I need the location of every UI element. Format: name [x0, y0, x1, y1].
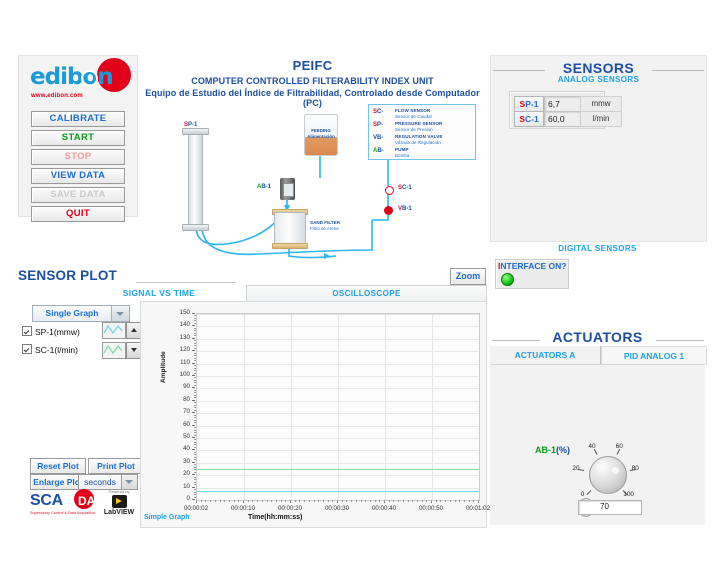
logo-url: www.edibon.com	[31, 93, 83, 99]
sensor-row-sc1: SC-1 60,0 l/min	[514, 111, 624, 125]
scada-wordmark: SCA	[30, 492, 63, 509]
unit-code: PEIFC	[140, 58, 485, 73]
chevron-down-icon[interactable]	[121, 475, 137, 489]
x-minor-tick	[210, 500, 211, 502]
y-tick	[192, 400, 195, 401]
sensor-code-sp1: SP-1	[514, 96, 544, 112]
view-data-button[interactable]: VIEW DATA	[31, 168, 125, 184]
legend-item: AB- PUMP Bomba	[369, 147, 475, 159]
x-minor-tick	[285, 500, 286, 502]
x-minor-tick	[248, 500, 249, 502]
y-tick-label: 30	[170, 458, 190, 465]
y-minor-tick	[194, 439, 196, 440]
y-minor-tick	[194, 430, 196, 431]
chart-line-sc-1-l-min-	[197, 469, 479, 470]
x-minor-tick	[252, 500, 253, 502]
x-minor-tick	[469, 500, 470, 502]
y-tick	[192, 387, 195, 388]
y-minor-tick	[194, 420, 196, 421]
legend-code: VB-	[373, 135, 383, 141]
x-minor-tick	[295, 500, 296, 502]
powered-by-label: Powered by	[97, 489, 141, 494]
series-color-swatch-sp1[interactable]	[102, 322, 126, 339]
y-tick	[192, 338, 195, 339]
y-tick	[192, 375, 195, 376]
x-minor-tick	[267, 500, 268, 502]
ab1-knob[interactable]	[589, 456, 627, 494]
column-top-cap	[182, 128, 209, 135]
gridline	[432, 314, 433, 500]
y-minor-tick	[194, 415, 196, 416]
y-tick-label: 10	[170, 483, 190, 490]
sensor-row-sp1: SP-1 6,7 mmw	[514, 96, 624, 110]
x-minor-tick	[238, 500, 239, 502]
calibrate-button[interactable]: CALIBRATE	[31, 111, 125, 127]
x-minor-tick	[201, 500, 202, 502]
y-minor-tick	[194, 392, 196, 393]
y-tick-label: 90	[170, 383, 190, 390]
process-diagram: SP-1 FEEDING Alimentación AB-1 SAND FILT…	[140, 100, 485, 262]
knob-tick-label: 80	[632, 465, 639, 472]
y-minor-tick	[194, 447, 196, 448]
x-minor-tick	[459, 500, 460, 502]
legend-label-es: Sensor de Caudal	[395, 114, 432, 119]
save-data-button[interactable]: SAVE DATA	[31, 187, 125, 203]
y-tick-label: 80	[170, 396, 190, 403]
legend-label-en: PUMP	[395, 147, 409, 152]
scada-logo: SCA DA Supervisory Control & Data Acquis…	[30, 492, 96, 515]
logo-wordmark: edibon	[30, 64, 113, 90]
x-minor-tick	[365, 500, 366, 502]
y-tick	[192, 462, 195, 463]
y-tick-label: 70	[170, 408, 190, 415]
graph-mode-value: Single Graph	[33, 306, 111, 321]
y-minor-tick	[194, 333, 196, 334]
sensor-value-sc1: 60,0	[544, 111, 582, 127]
diagram-legend: SC- FLOW SENSOR Sensor de Caudal SP- PRE…	[368, 104, 476, 160]
y-minor-tick	[194, 417, 196, 418]
knob-tick-label: 20	[572, 465, 579, 472]
y-minor-tick	[194, 410, 196, 411]
y-minor-tick	[194, 320, 196, 321]
x-minor-tick	[478, 500, 479, 502]
x-minor-tick	[337, 500, 338, 502]
y-tick	[192, 437, 195, 438]
gridline	[385, 314, 386, 500]
x-minor-tick	[431, 500, 432, 502]
knob-tick-label: 40	[588, 443, 595, 450]
x-minor-tick	[436, 500, 437, 502]
x-minor-tick	[342, 500, 343, 502]
x-minor-tick	[393, 500, 394, 502]
ab1-value: 70	[600, 502, 609, 511]
header-divider	[136, 282, 236, 283]
time-unit-select[interactable]: seconds	[78, 474, 138, 490]
sensor-code-sc1: SC-1	[514, 111, 544, 127]
x-minor-tick	[205, 500, 206, 502]
x-minor-tick	[426, 500, 427, 502]
x-tick-label: 00:00:10	[223, 505, 263, 512]
knob-label-ab1: AB-1(%)	[535, 445, 570, 455]
x-minor-tick	[234, 500, 235, 502]
simple-graph-label: Simple Graph	[144, 514, 190, 521]
x-minor-tick	[262, 500, 263, 502]
y-minor-tick	[194, 397, 196, 398]
y-minor-tick	[194, 330, 196, 331]
logo-o-ring-icon	[81, 70, 98, 87]
x-minor-tick	[440, 500, 441, 502]
y-minor-tick	[194, 457, 196, 458]
y-minor-tick	[194, 335, 196, 336]
y-tick	[192, 313, 195, 314]
y-minor-tick	[194, 355, 196, 356]
x-minor-tick	[398, 500, 399, 502]
checkbox-icon[interactable]	[22, 344, 32, 354]
x-minor-tick	[455, 500, 456, 502]
y-tick-label: 140	[170, 321, 190, 328]
x-minor-tick	[389, 500, 390, 502]
y-minor-tick	[194, 427, 196, 428]
x-minor-tick	[196, 500, 197, 502]
y-tick	[192, 325, 195, 326]
gridline	[338, 314, 339, 500]
x-minor-tick	[309, 500, 310, 502]
y-minor-tick	[194, 484, 196, 485]
x-minor-tick	[304, 500, 305, 502]
x-minor-tick	[370, 500, 371, 502]
x-minor-tick	[412, 500, 413, 502]
x-minor-tick	[323, 500, 324, 502]
x-minor-tick	[464, 500, 465, 502]
y-minor-tick	[194, 492, 196, 493]
y-tick-label: 100	[170, 371, 190, 378]
start-button[interactable]: START	[31, 130, 125, 146]
sand-filter	[274, 212, 306, 247]
x-minor-tick	[356, 500, 357, 502]
filter-label-en: SAND FILTER	[310, 220, 340, 225]
x-minor-tick	[290, 500, 291, 502]
zoom-button[interactable]: Zoom	[450, 268, 486, 285]
y-minor-tick	[194, 377, 196, 378]
y-tick-label: 50	[170, 433, 190, 440]
labview-play-icon	[112, 495, 127, 508]
signal-vs-time-subtitle: SIGNAL VS TIME	[100, 288, 218, 298]
y-tick-label: 60	[170, 421, 190, 428]
sensor-unit-sp1: mmw	[580, 96, 622, 112]
y-tick-label: 130	[170, 334, 190, 341]
y-minor-tick	[194, 482, 196, 483]
y-minor-tick	[194, 343, 196, 344]
channel-checkbox-sc1[interactable]: SC-1(l/min)	[22, 344, 78, 355]
sensor-unit-sc1: l/min	[580, 111, 622, 127]
sensor-value-sp1: 6,7	[544, 96, 582, 112]
unit-name-en: COMPUTER CONTROLLED FILTERABILITY INDEX …	[140, 76, 485, 86]
filter-label-es: Filtro de Arena	[310, 226, 339, 231]
diagram-label-sc1: SC-1	[398, 185, 412, 191]
y-minor-tick	[194, 370, 196, 371]
x-minor-tick	[328, 500, 329, 502]
pump-body	[283, 183, 294, 197]
y-minor-tick	[194, 323, 196, 324]
scroll-down-icon[interactable]	[126, 342, 141, 359]
y-minor-tick	[194, 422, 196, 423]
channel-label: SC-1(l/min)	[35, 345, 78, 355]
x-minor-tick	[332, 500, 333, 502]
tank-label-en: FEEDING	[305, 128, 337, 133]
y-minor-tick	[194, 368, 196, 369]
y-minor-tick	[194, 472, 196, 473]
legend-code: AB-	[373, 148, 384, 154]
x-minor-tick	[220, 500, 221, 502]
y-tick	[192, 499, 195, 500]
x-tick-label: 00:00:50	[411, 505, 451, 512]
scroll-up-icon[interactable]	[126, 322, 141, 339]
y-tick-label: 20	[170, 470, 190, 477]
x-minor-tick	[281, 500, 282, 502]
legend-label-en: PRESSURE SENSOR	[395, 121, 442, 126]
knob-tick-label: 60	[616, 443, 623, 450]
legend-label-en: REGULATION VALVE	[395, 134, 443, 139]
y-tick-label: 150	[170, 309, 190, 316]
x-tick-label: 00:00:20	[270, 505, 310, 512]
x-minor-tick	[257, 500, 258, 502]
x-minor-tick	[243, 500, 244, 502]
analog-sensors-subtitle: ANALOG SENSORS	[491, 75, 706, 84]
y-minor-tick	[194, 469, 196, 470]
x-minor-tick	[229, 500, 230, 502]
graph-mode-select[interactable]: Single Graph	[32, 305, 130, 322]
regulation-valve-symbol	[384, 206, 393, 215]
y-minor-tick	[194, 353, 196, 354]
control-panel: edibon www.edibon.com CALIBRATE START ST…	[18, 55, 138, 217]
x-minor-tick	[224, 500, 225, 502]
x-minor-tick	[361, 500, 362, 502]
sensors-panel: SENSORS ANALOG SENSORS SP-1 6,7 mmw SC-1…	[490, 55, 707, 242]
tab-actuators-a[interactable]: ACTUATORS A	[490, 346, 601, 364]
y-tick	[192, 487, 195, 488]
y-minor-tick	[194, 405, 196, 406]
interface-on-label: INTERFACE ON?	[498, 261, 567, 271]
application-window: edibon www.edibon.com CALIBRATE START ST…	[0, 0, 723, 584]
gridline	[244, 314, 245, 500]
y-minor-tick	[194, 390, 196, 391]
y-minor-tick	[194, 348, 196, 349]
y-minor-tick	[194, 464, 196, 465]
y-minor-tick	[194, 365, 196, 366]
y-tick	[192, 474, 195, 475]
x-minor-tick	[408, 500, 409, 502]
interface-status-led	[501, 273, 514, 286]
x-tick-label: 00:00:30	[317, 505, 357, 512]
y-tick	[192, 412, 195, 413]
print-plot-button[interactable]: Print Plot	[88, 458, 144, 474]
y-minor-tick	[194, 444, 196, 445]
digital-sensors-group: INTERFACE ON?	[495, 259, 569, 289]
legend-item: VB- REGULATION VALVE Válvula de Regulaci…	[369, 134, 475, 146]
y-minor-tick	[194, 407, 196, 408]
x-minor-tick	[215, 500, 216, 502]
chart-plot-area[interactable]	[196, 313, 480, 501]
checkbox-icon[interactable]	[22, 326, 32, 336]
legend-code: SP-	[373, 122, 383, 128]
legend-label-es: Sensor de Presión	[395, 127, 433, 132]
digital-sensors-subtitle: DIGITAL SENSORS	[490, 244, 705, 253]
sensor-plot-header: SENSOR PLOT	[18, 268, 136, 290]
y-minor-tick	[194, 442, 196, 443]
x-minor-tick	[473, 500, 474, 502]
sensor-plot-title: SENSOR PLOT	[18, 268, 136, 283]
x-minor-tick	[417, 500, 418, 502]
x-minor-tick	[450, 500, 451, 502]
x-minor-tick	[346, 500, 347, 502]
y-minor-tick	[194, 432, 196, 433]
feeding-tank: FEEDING Alimentación	[304, 114, 338, 156]
legend-item: SP- PRESSURE SENSOR Sensor de Presión	[369, 121, 475, 133]
y-minor-tick	[194, 318, 196, 319]
ab1-value-field[interactable]: 70	[578, 500, 642, 515]
y-minor-tick	[194, 489, 196, 490]
legend-code: SC-	[373, 109, 383, 115]
labview-label: LabVIEW	[97, 509, 141, 516]
time-unit-value: seconds	[79, 475, 121, 489]
y-tick-label: 0	[170, 495, 190, 502]
y-minor-tick	[194, 380, 196, 381]
diagram-label-vb1: VB-1	[398, 206, 412, 212]
y-minor-tick	[194, 452, 196, 453]
chevron-down-icon[interactable]	[111, 306, 129, 321]
quit-button[interactable]: QUIT	[31, 206, 125, 222]
pump-ab1	[280, 178, 295, 200]
legend-label-es: Válvula de Regulación	[395, 140, 441, 145]
y-minor-tick	[194, 435, 196, 436]
tank-label-es: Alimentación	[305, 134, 337, 139]
y-minor-tick	[194, 328, 196, 329]
x-tick-label: 00:00:40	[364, 505, 404, 512]
y-tick	[192, 449, 195, 450]
reset-plot-button[interactable]: Reset Plot	[30, 458, 86, 474]
scada-da-text: DA	[78, 494, 95, 508]
channel-checkbox-sp1[interactable]: SP-1(mmw)	[22, 326, 80, 337]
y-minor-tick	[194, 382, 196, 383]
series-color-swatch-sc1[interactable]	[102, 342, 126, 359]
scada-subtitle: Supervisory Control & Data Acquisition	[30, 511, 96, 515]
y-tick-label: 110	[170, 359, 190, 366]
x-minor-tick	[403, 500, 404, 502]
y-minor-tick	[194, 454, 196, 455]
column-bottom-cap	[182, 224, 209, 231]
x-minor-tick	[379, 500, 380, 502]
channel-label: SP-1(mmw)	[35, 327, 80, 337]
diagram-label-ab1: AB-1	[257, 184, 271, 190]
y-minor-tick	[194, 358, 196, 359]
y-tick	[192, 350, 195, 351]
x-tick-label: 00:00:02	[176, 505, 216, 512]
y-minor-tick	[194, 459, 196, 460]
x-minor-tick	[384, 500, 385, 502]
tab-pid-analog-1[interactable]: PID ANALOG 1	[601, 346, 707, 365]
x-minor-tick	[351, 500, 352, 502]
x-minor-tick	[276, 500, 277, 502]
y-minor-tick	[194, 395, 196, 396]
x-minor-tick	[375, 500, 376, 502]
actuators-title: ACTUATORS	[490, 329, 705, 345]
x-minor-tick	[299, 500, 300, 502]
y-tick-label: 40	[170, 445, 190, 452]
labview-badge: Powered by LabVIEW	[97, 489, 141, 516]
y-tick	[192, 425, 195, 426]
stop-button[interactable]: STOP	[31, 149, 125, 165]
y-minor-tick	[194, 467, 196, 468]
y-minor-tick	[194, 315, 196, 316]
knob-tick-label: 100	[623, 491, 634, 498]
chart-line-sp-1-mmw-	[197, 491, 479, 492]
y-minor-tick	[194, 373, 196, 374]
y-minor-tick	[194, 494, 196, 495]
y-tick	[192, 363, 195, 364]
x-minor-tick	[445, 500, 446, 502]
x-minor-tick	[422, 500, 423, 502]
filter-bottom-cap	[272, 243, 308, 249]
chart-y-axis-label: Amplitude	[160, 351, 167, 383]
x-minor-tick	[314, 500, 315, 502]
y-minor-tick	[194, 340, 196, 341]
legend-label-en: FLOW SENSOR	[395, 108, 430, 113]
edibon-logo: edibon www.edibon.com	[19, 56, 137, 108]
x-minor-tick	[271, 500, 272, 502]
x-minor-tick	[318, 500, 319, 502]
y-minor-tick	[194, 402, 196, 403]
chart-x-axis-label: Time(hh:mm:ss)	[248, 514, 302, 521]
analog-sensors-group: SP-1 6,7 mmw SC-1 60,0 l/min	[509, 91, 605, 129]
y-tick-label: 120	[170, 346, 190, 353]
y-minor-tick	[194, 345, 196, 346]
legend-item: SC- FLOW SENSOR Sensor de Caudal	[369, 108, 475, 120]
y-minor-tick	[194, 479, 196, 480]
sensors-title: SENSORS	[491, 60, 706, 76]
y-minor-tick	[194, 385, 196, 386]
y-minor-tick	[194, 360, 196, 361]
y-minor-tick	[194, 497, 196, 498]
flow-sensor-symbol	[385, 186, 394, 195]
y-minor-tick	[194, 477, 196, 478]
filter-column	[188, 132, 203, 228]
legend-label-es: Bomba	[395, 153, 409, 158]
gridline	[291, 314, 292, 500]
